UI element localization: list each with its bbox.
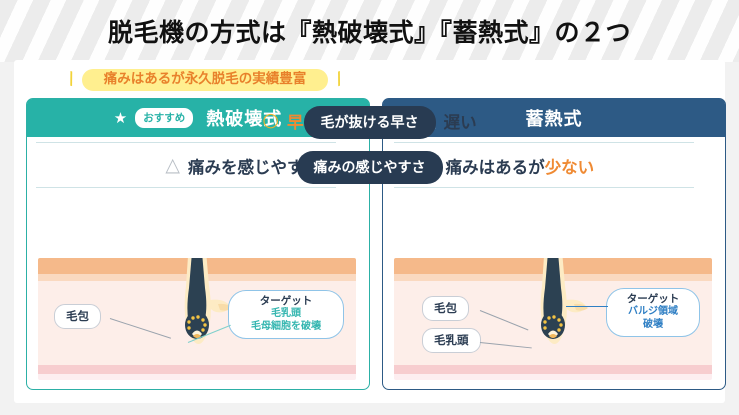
callout-line-1: バルジ領域: [616, 306, 690, 319]
callout-target-left: ターゲット 毛乳頭 毛母細胞を破壊: [228, 290, 344, 339]
label-hair-papilla: 毛乳頭: [422, 328, 481, 353]
row-speed-right-value: △ 遅い: [387, 98, 739, 143]
row-pain-right-text-highlight: 少ない: [545, 154, 595, 178]
comparison-row-speed: ○ 早い △ 遅い 毛が抜ける早さ: [0, 98, 739, 143]
infographic-root: 脱毛機の方式は『熱破壊式』『蓄熱式』の２つ \ 痛みはあるが永久脱毛の実績豊富 …: [0, 0, 739, 415]
criterion-pain-pill: 痛みの感じやすさ: [297, 151, 443, 184]
leader-line-target: [566, 306, 608, 307]
callout-line-2: 破壊: [616, 319, 690, 332]
label-hair-follicle: 毛包: [54, 304, 101, 329]
row-pain-right-text-plain: 痛みはあるが: [446, 154, 545, 178]
triangle-mark-icon: △: [165, 156, 180, 175]
callout-line-2: 毛母細胞を破壊: [238, 321, 334, 334]
callout-title: ターゲット: [238, 295, 334, 308]
comparison-row-pain: △ 痛みを感じやすい ○ 痛みはあるが 少ない 痛みの感じやすさ: [0, 143, 739, 188]
row-separator-left: [36, 187, 336, 188]
recommendation-ribbon: \ 痛みはあるが永久脱毛の実績豊富 /: [62, 68, 348, 92]
diagram-left: 毛包 ターゲット 毛乳頭 毛母細胞を破壊: [38, 258, 356, 380]
callout-target-right: ターゲット バルジ領域 破壊: [606, 288, 700, 337]
diagram-right: 毛包 毛乳頭 ターゲット バルジ領域 破壊: [394, 258, 712, 380]
callout-title: ターゲット: [616, 293, 690, 306]
page-title: 脱毛機の方式は『熱破壊式』『蓄熱式』の２つ: [0, 0, 739, 62]
row-speed-right-text: 遅い: [444, 109, 477, 133]
ribbon-slash-right-icon: /: [333, 69, 345, 90]
ribbon-slash-left-icon: \: [65, 69, 77, 90]
hair-follicle-illustration: [510, 258, 596, 376]
circle-mark-icon: ○: [262, 111, 279, 130]
row-speed-left-value: ○ 早い: [0, 98, 352, 143]
criterion-speed-pill: 毛が抜ける早さ: [304, 106, 436, 139]
comparison-table: ○ 早い △ 遅い 毛が抜ける早さ △ 痛みを感じやすい ○ 痛みはあるが 少な…: [0, 98, 739, 198]
ribbon-label: 痛みはあるが永久脱毛の実績豊富: [82, 69, 329, 92]
callout-line-1: 毛乳頭: [238, 308, 334, 321]
label-hair-follicle: 毛包: [422, 296, 469, 321]
row-separator-right: [394, 187, 694, 188]
